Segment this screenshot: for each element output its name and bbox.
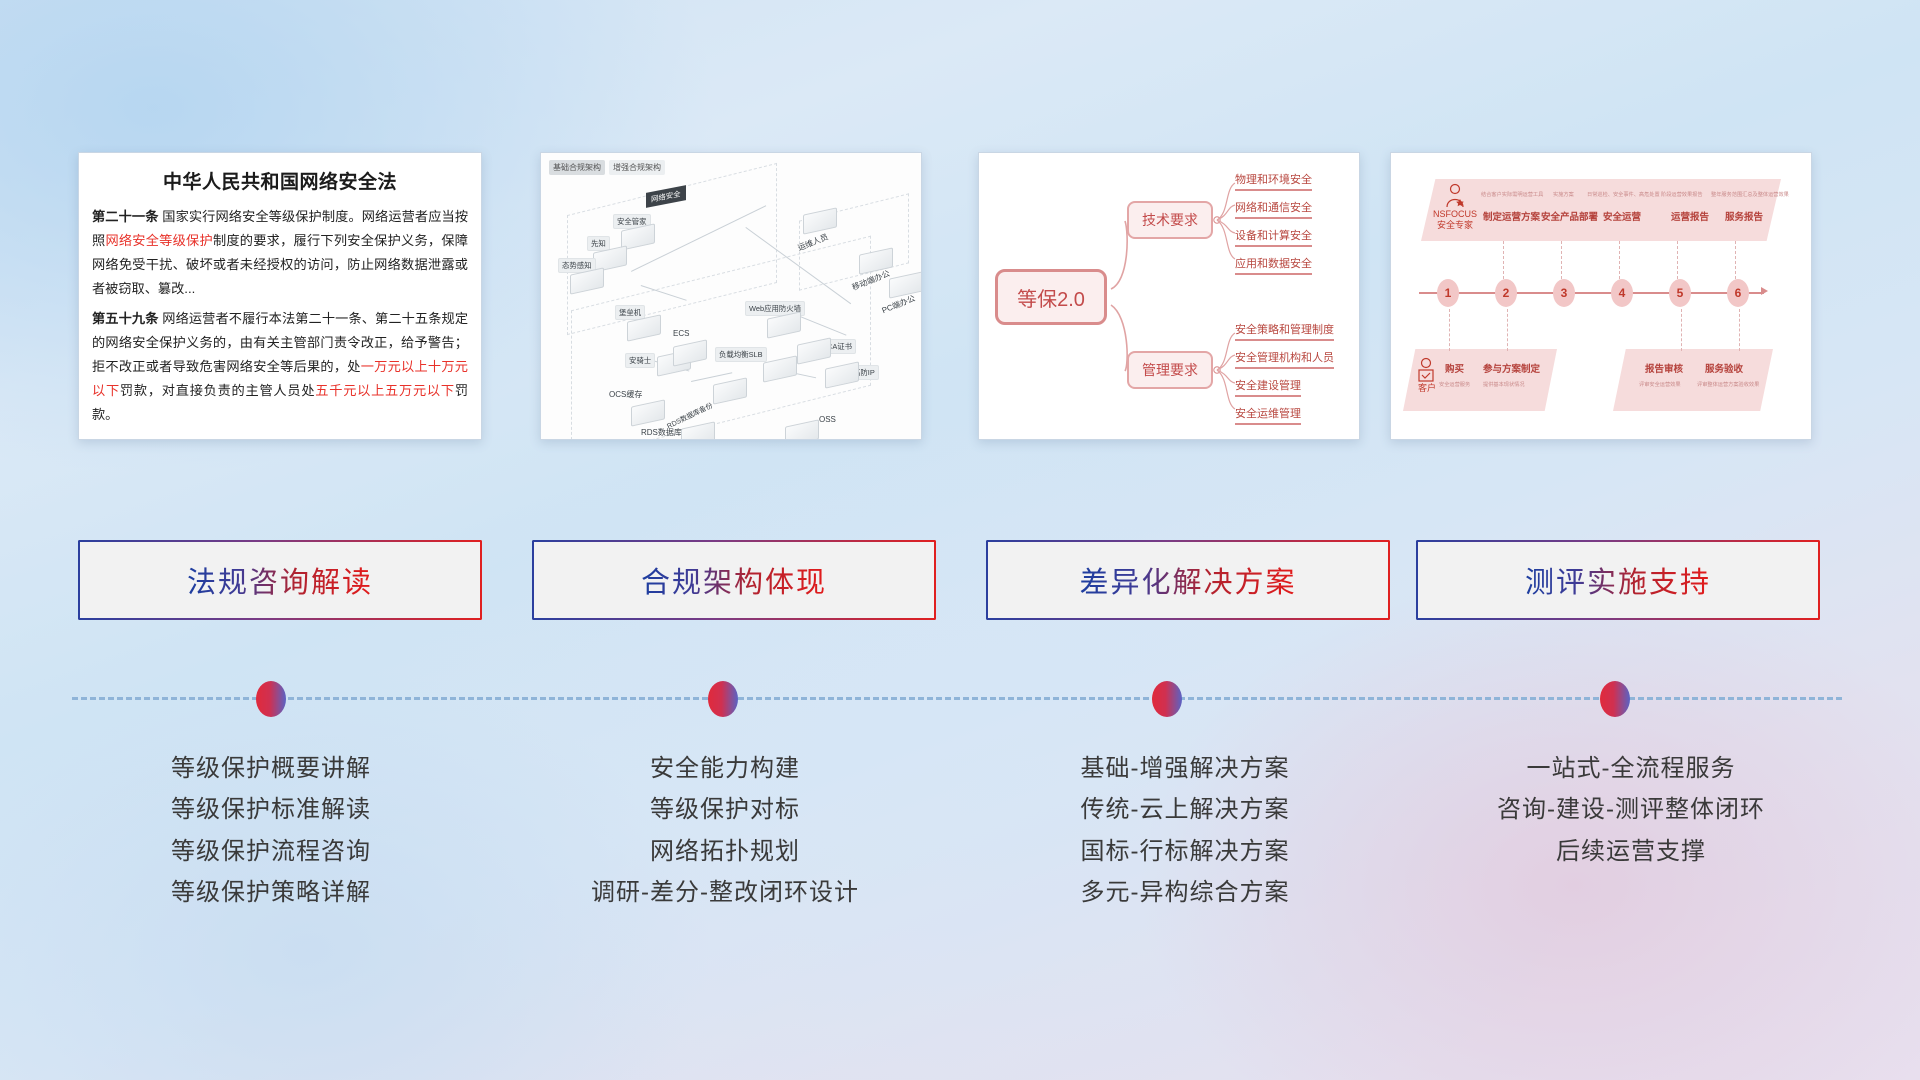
roadmap-bottom-sub-4: 评审整体运营方案验收效果 <box>1697 381 1759 388</box>
architecture-diagram: 基础合规架构 增强合规架构 网络安全 安全管家 先知 <box>541 153 921 439</box>
customer-avatar-icon <box>1415 357 1437 383</box>
roadmap-arrow-icon <box>1761 287 1768 295</box>
law-article-59: 第五十九条 网络运营者不履行本法第二十一条、第二十五条规定的网络安全保护义务的，… <box>92 307 468 427</box>
mindmap-leaf: 设备和计算安全 <box>1235 227 1312 247</box>
roadmap-bottom-band-right <box>1613 349 1773 411</box>
detail-item: 咨询-建设-测评整体闭环 <box>1396 789 1866 830</box>
stage-box-label: 差异化解决方案 <box>1079 559 1296 601</box>
detail-item: 国标-行标解决方案 <box>950 831 1420 872</box>
law-title: 中华人民共和国网络安全法 <box>92 167 468 194</box>
slide-canvas: 中华人民共和国网络安全法 第二十一条 国家实行网络安全等级保护制度。网络运营者应… <box>0 0 1920 1080</box>
expert-avatar-icon <box>1443 183 1467 209</box>
roadmap-step-4[interactable]: 4 <box>1611 279 1633 307</box>
timeline-dashed-line <box>72 697 1842 700</box>
detail-column-1: 等级保护概要讲解 等级保护标准解读 等级保护流程咨询 等级保护策略详解 <box>36 748 506 913</box>
node-mobile-office: 移动端办公 <box>859 251 893 271</box>
detail-item: 等级保护概要讲解 <box>36 748 506 789</box>
roadmap-connector <box>1503 241 1504 279</box>
roadmap-bottom-title-3: 报告审核 <box>1645 361 1683 375</box>
mindmap-branch-technical[interactable]: 技术要求 <box>1127 201 1213 239</box>
roadmap-connector <box>1739 309 1740 351</box>
mindmap-leaf: 物理和环境安全 <box>1235 171 1312 191</box>
timeline-dot-3[interactable] <box>1152 681 1182 717</box>
mindmap-branch-management[interactable]: 管理要求 <box>1127 351 1213 389</box>
detail-item: 后续运营支撑 <box>1396 831 1866 872</box>
node-waf: Web应用防火墙 <box>767 315 801 335</box>
node-situational-awareness: 态势感知 <box>570 271 604 291</box>
node-xianzhi: 先知 <box>593 249 627 269</box>
roadmap-step-6[interactable]: 6 <box>1727 279 1749 307</box>
node-security-butler: 安全管家 <box>621 227 655 247</box>
roadmap-top-sub-1: 结合客户实际需明运营工具 <box>1481 191 1543 198</box>
node-ecs: ECS <box>673 343 707 363</box>
detail-column-2: 安全能力构建 等级保护对标 网络拓扑规划 调研-差分-整改闭环设计 <box>490 748 960 913</box>
article-21-label: 第二十一条 <box>92 209 159 224</box>
roadmap-bottom-title-4: 服务验收 <box>1705 361 1743 375</box>
detail-item: 等级保护对标 <box>490 789 960 830</box>
roadmap-bottom-title-1: 购买 <box>1445 361 1464 375</box>
roadmap-top-sub-2: 实施方案 <box>1553 191 1574 198</box>
detail-item: 传统-云上解决方案 <box>950 789 1420 830</box>
node-ops-staff: 运维人员 <box>803 211 837 231</box>
detail-item: 网络拓扑规划 <box>490 831 960 872</box>
roadmap-step-5[interactable]: 5 <box>1669 279 1691 307</box>
detail-item: 基础-增强解决方案 <box>950 748 1420 789</box>
timeline-dot-4[interactable] <box>1600 681 1630 717</box>
roadmap-top-title-5: 服务报告 <box>1725 209 1763 223</box>
detail-item: 安全能力构建 <box>490 748 960 789</box>
card-cloud-architecture: 基础合规架构 增强合规架构 网络安全 安全管家 先知 <box>540 152 922 440</box>
card-cybersecurity-law: 中华人民共和国网络安全法 第二十一条 国家实行网络安全等级保护制度。网络运营者应… <box>78 152 482 440</box>
detail-column-3: 基础-增强解决方案 传统-云上解决方案 国标-行标解决方案 多元-异构综合方案 <box>950 748 1420 913</box>
roadmap-top-title-4: 运营报告 <box>1671 209 1709 223</box>
roadmap-top-sub-4: 阶段运营效果报告 <box>1661 191 1703 198</box>
node-rds-backup: RDS数据库备份 <box>713 381 747 401</box>
mindmap-root[interactable]: 等保2.0 <box>995 269 1107 325</box>
roadmap-connector <box>1735 241 1736 279</box>
roadmap-step-3[interactable]: 3 <box>1553 279 1575 307</box>
detail-item: 等级保护策略详解 <box>36 872 506 913</box>
roadmap-top-sub-3: 日常巡检、安全事件、高危处置 <box>1587 191 1660 198</box>
node-ocs-cache: OCS缓存 <box>631 403 665 423</box>
card-mindmap-dengbao: 等保2.0 技术要求 管理要求 物理和环境安全 网络和通信安全 设备和计算安全 … <box>978 152 1360 440</box>
roadmap-step-2[interactable]: 2 <box>1495 279 1517 307</box>
roadmap-diagram: NSFOCUS 安全专家 客户 1 2 3 4 5 6 <box>1391 153 1811 439</box>
stage-box-compliance-architecture[interactable]: 合规架构体现 <box>532 540 936 620</box>
node-oss: OSS <box>785 423 819 440</box>
mindmap-leaf: 应用和数据安全 <box>1235 255 1312 275</box>
mindmap-leaf: 安全运维管理 <box>1235 405 1301 425</box>
law-article-21: 第二十一条 国家实行网络安全等级保护制度。网络运营者应当按照网络安全等级保护制度… <box>92 205 468 301</box>
node-pc-office: PC端办公 <box>889 275 922 295</box>
architecture-tabs: 基础合规架构 增强合规架构 <box>549 160 665 175</box>
law-document: 中华人民共和国网络安全法 第二十一条 国家实行网络安全等级保护制度。网络运营者应… <box>79 153 481 440</box>
article-59-highlight-2: 五千元以上五万元以下 <box>315 383 455 398</box>
mindmap-leaf: 安全建设管理 <box>1235 377 1301 397</box>
roadmap-bottom-sub-3: 评审安全运营效果 <box>1639 381 1681 388</box>
roadmap-connector <box>1619 241 1620 279</box>
roadmap-top-title-1: 制定运营方案 <box>1483 209 1540 223</box>
stage-box-differentiated-solution[interactable]: 差异化解决方案 <box>986 540 1390 620</box>
article-59-label: 第五十九条 <box>92 311 159 326</box>
stage-box-label: 测评实施支持 <box>1525 559 1711 601</box>
roadmap-top-title-2: 安全产品部署 <box>1541 209 1598 223</box>
roadmap-top-sub-5: 整年服务范围汇总及整体运营效果 <box>1711 191 1789 198</box>
roadmap-connector <box>1681 309 1682 351</box>
mindmap-leaf: 安全策略和管理制度 <box>1235 321 1334 341</box>
detail-item: 等级保护标准解读 <box>36 789 506 830</box>
detail-column-4: 一站式-全流程服务 咨询-建设-测评整体闭环 后续运营支撑 <box>1396 748 1866 872</box>
mindmap-diagram: 等保2.0 技术要求 管理要求 物理和环境安全 网络和通信安全 设备和计算安全 … <box>979 153 1359 439</box>
mindmap-leaf: 网络和通信安全 <box>1235 199 1312 219</box>
detail-item: 调研-差分-整改闭环设计 <box>490 872 960 913</box>
card-nsfocus-roadmap: NSFOCUS 安全专家 客户 1 2 3 4 5 6 <box>1390 152 1812 440</box>
detail-item: 多元-异构综合方案 <box>950 872 1420 913</box>
roadmap-bottom-sub-1: 安全运营服务 <box>1439 381 1470 388</box>
roadmap-axis <box>1419 292 1764 294</box>
stage-box-label: 合规架构体现 <box>641 559 827 601</box>
mindmap-leaf: 安全管理机构和人员 <box>1235 349 1334 369</box>
roadmap-bottom-sub-2: 提供基本现状情况 <box>1483 381 1525 388</box>
stage-box-regulation-consulting[interactable]: 法规咨询解读 <box>78 540 482 620</box>
timeline-dot-2[interactable] <box>708 681 738 717</box>
roadmap-connector <box>1507 309 1508 351</box>
article-21-highlight: 网络安全等级保护 <box>105 233 213 248</box>
tab-basic-architecture[interactable]: 基础合规架构 <box>549 160 605 175</box>
node-anti-ddos-ip: 高防IP <box>825 365 859 385</box>
node-ca-certificate: CA证书 <box>797 341 831 361</box>
expert-label: NSFOCUS 安全专家 <box>1427 209 1483 232</box>
node-slb: 负载均衡SLB <box>763 359 797 379</box>
roadmap-connector <box>1677 241 1678 279</box>
roadmap-top-title-3: 安全运营 <box>1603 209 1641 223</box>
roadmap-connector <box>1561 241 1562 279</box>
stage-box-assessment-support[interactable]: 测评实施支持 <box>1416 540 1820 620</box>
detail-item: 等级保护流程咨询 <box>36 831 506 872</box>
node-bastion-host: 堡垒机 <box>627 318 661 338</box>
tab-enhanced-architecture[interactable]: 增强合规架构 <box>609 160 665 175</box>
detail-item: 一站式-全流程服务 <box>1396 748 1866 789</box>
roadmap-step-1[interactable]: 1 <box>1437 279 1459 307</box>
timeline-dot-1[interactable] <box>256 681 286 717</box>
node-rds-database: RDS数据库 <box>681 425 715 440</box>
roadmap-connector <box>1449 309 1450 351</box>
stage-box-label: 法规咨询解读 <box>187 559 373 601</box>
roadmap-bottom-title-2: 参与方案制定 <box>1483 361 1540 375</box>
article-59-text-2: 罚款，对直接负责的主管人员处 <box>120 383 315 398</box>
